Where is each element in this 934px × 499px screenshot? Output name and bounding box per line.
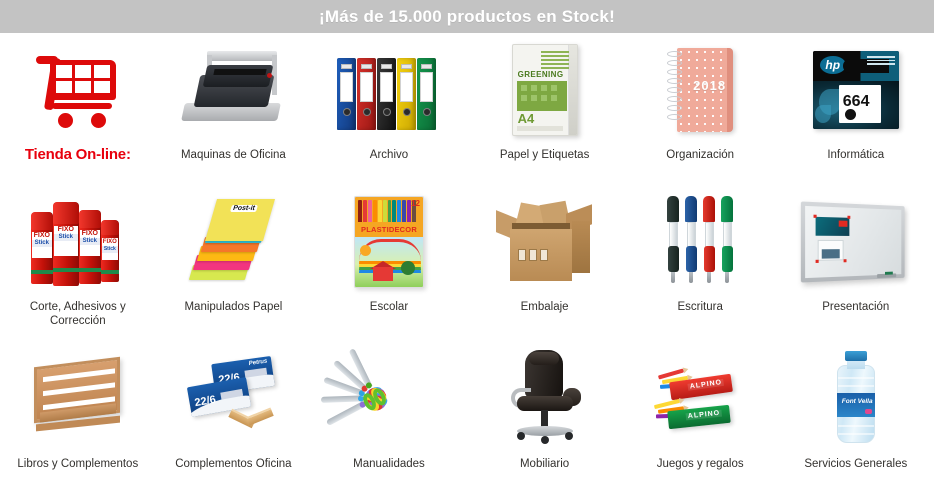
book-stand-icon [26, 358, 130, 438]
water-bottle-icon: Font Vella [833, 351, 879, 445]
ream-brand: GREENING [518, 70, 564, 79]
category-label: Embalaje [521, 300, 569, 340]
postit-brand: Post-it [230, 205, 258, 212]
alpino-brand-green: ALPINO [686, 410, 723, 421]
bottle-brand: Font Vella [842, 399, 873, 405]
category-row: Tienda On-line: Maquinas de Oficina [0, 33, 934, 185]
category-art [314, 340, 464, 452]
category-label: Maquinas de Oficina [181, 148, 286, 185]
category-label: Papel y Etiquetas [500, 148, 590, 185]
category-label: Juegos y regalos [657, 457, 744, 494]
ream-size: A4 [518, 113, 535, 124]
category-art [3, 340, 153, 452]
category-tile-tienda-online[interactable]: Tienda On-line: [0, 33, 156, 185]
staple-brand: Petrus [249, 359, 268, 368]
paper-ream-icon: GREENING A4 [512, 44, 578, 136]
category-label: Escolar [370, 300, 408, 340]
category-tile-complementos-oficina[interactable]: Petrus 22/6 22/6 Complementos Ofic [156, 340, 312, 494]
colored-pencil-boxes-icon: ALPINO ALPINO [648, 358, 752, 438]
category-art: GREENING A4 [470, 33, 620, 143]
category-art [158, 33, 308, 143]
category-art: 2018 [625, 33, 775, 143]
category-tile-embalaje[interactable]: Embalaje [467, 185, 623, 340]
lever-arch-binders-icon [337, 50, 441, 130]
product-categories-page: ¡Más de 15.000 productos en Stock! Tiend… [0, 0, 934, 499]
category-art [470, 185, 620, 295]
category-art: ALPINO ALPINO [625, 340, 775, 452]
category-tile-manipulados-papel[interactable]: Post-it Manipulados Papel [156, 185, 312, 340]
category-art: Font Vella [781, 340, 931, 452]
category-art [470, 340, 620, 452]
category-label: Libros y Complementos [17, 457, 138, 494]
category-label: Mobiliario [520, 457, 569, 494]
category-tile-papel-y-etiquetas[interactable]: GREENING A4 Papel y Etiquetas [467, 33, 623, 185]
category-art [314, 33, 464, 143]
category-label: Complementos Oficina [175, 457, 291, 494]
office-chair-icon [503, 350, 587, 446]
category-label: Organización [666, 148, 734, 185]
category-label: Archivo [370, 148, 408, 185]
category-label: Servicios Generales [804, 457, 907, 494]
category-art [3, 33, 153, 143]
category-art: Petrus 22/6 22/6 [158, 340, 308, 452]
whiteboard-icon [801, 201, 905, 282]
binding-machine-icon [181, 47, 285, 133]
category-tile-servicios-generales[interactable]: Font Vella Servicios Generales [778, 340, 934, 494]
promo-header-bar: ¡Más de 15.000 productos en Stock! [0, 0, 934, 33]
staple-boxes-icon: Petrus 22/6 22/6 [181, 356, 285, 440]
category-label: Informática [827, 148, 884, 185]
category-art: Post-it [158, 185, 308, 295]
crayon-brand: PLASTIDECOR [355, 225, 423, 237]
craft-scissors-icon [337, 356, 441, 440]
hp-logo: hp [820, 56, 846, 74]
sticky-notes-icon: Post-it [185, 201, 281, 283]
promo-header-title: ¡Más de 15.000 productos en Stock! [319, 7, 615, 27]
category-tile-corte-adhesivos-correccion[interactable]: FIXOStick FIXOStick FIXOStick FIXOStick [0, 185, 156, 340]
category-tile-maquinas-de-oficina[interactable]: Maquinas de Oficina [156, 33, 312, 185]
category-label: Manualidades [353, 457, 425, 494]
cartridge-number: 664 [843, 93, 870, 111]
category-tile-libros-y-complementos[interactable]: Libros y Complementos [0, 340, 156, 494]
alpino-brand-red: ALPINO [688, 379, 725, 391]
category-grid: Tienda On-line: Maquinas de Oficina [0, 33, 934, 494]
agenda-year: 2018 [693, 78, 726, 93]
category-art [781, 185, 931, 295]
category-label: Presentación [822, 300, 889, 340]
category-tile-escritura[interactable]: Escritura [622, 185, 778, 340]
spiral-agenda-icon: 2018 [667, 48, 733, 132]
category-tile-informatica[interactable]: hp 664 Informática [778, 33, 934, 185]
category-tile-organizacion[interactable]: 2018 Organización [622, 33, 778, 185]
category-tile-juegos-y-regalos[interactable]: ALPINO ALPINO Juegos y regalos [622, 340, 778, 494]
glue-sticks-icon: FIXOStick FIXOStick FIXOStick FIXOStick [25, 194, 131, 290]
category-tile-escolar[interactable]: 12 PLASTIDECOR Escolar [311, 185, 467, 340]
category-row: FIXOStick FIXOStick FIXOStick FIXOStick [0, 185, 934, 340]
category-label: Corte, Adhesivos y Corrección [2, 300, 154, 340]
category-tile-presentacion[interactable]: Presentación [778, 185, 934, 340]
shopping-cart-icon [36, 52, 120, 128]
category-art: hp 664 [781, 33, 931, 143]
ink-cartridge-icon: hp 664 [813, 51, 899, 129]
category-art [625, 185, 775, 295]
category-art: FIXOStick FIXOStick FIXOStick FIXOStick [3, 185, 153, 295]
crayon-count: 12 [411, 199, 420, 208]
ballpoint-pens-icon [654, 196, 746, 288]
category-label: Tienda On-line: [25, 148, 131, 185]
category-label: Manipulados Papel [184, 300, 282, 340]
category-label: Escritura [677, 300, 722, 340]
category-tile-mobiliario[interactable]: Mobiliario [467, 340, 623, 494]
cardboard-box-icon [496, 199, 594, 285]
category-tile-manualidades[interactable]: Manualidades [311, 340, 467, 494]
crayons-pack-icon: 12 PLASTIDECOR [354, 196, 424, 288]
category-tile-archivo[interactable]: Archivo [311, 33, 467, 185]
category-row: Libros y Complementos Petrus 22/6 [0, 340, 934, 494]
category-art: 12 PLASTIDECOR [314, 185, 464, 295]
